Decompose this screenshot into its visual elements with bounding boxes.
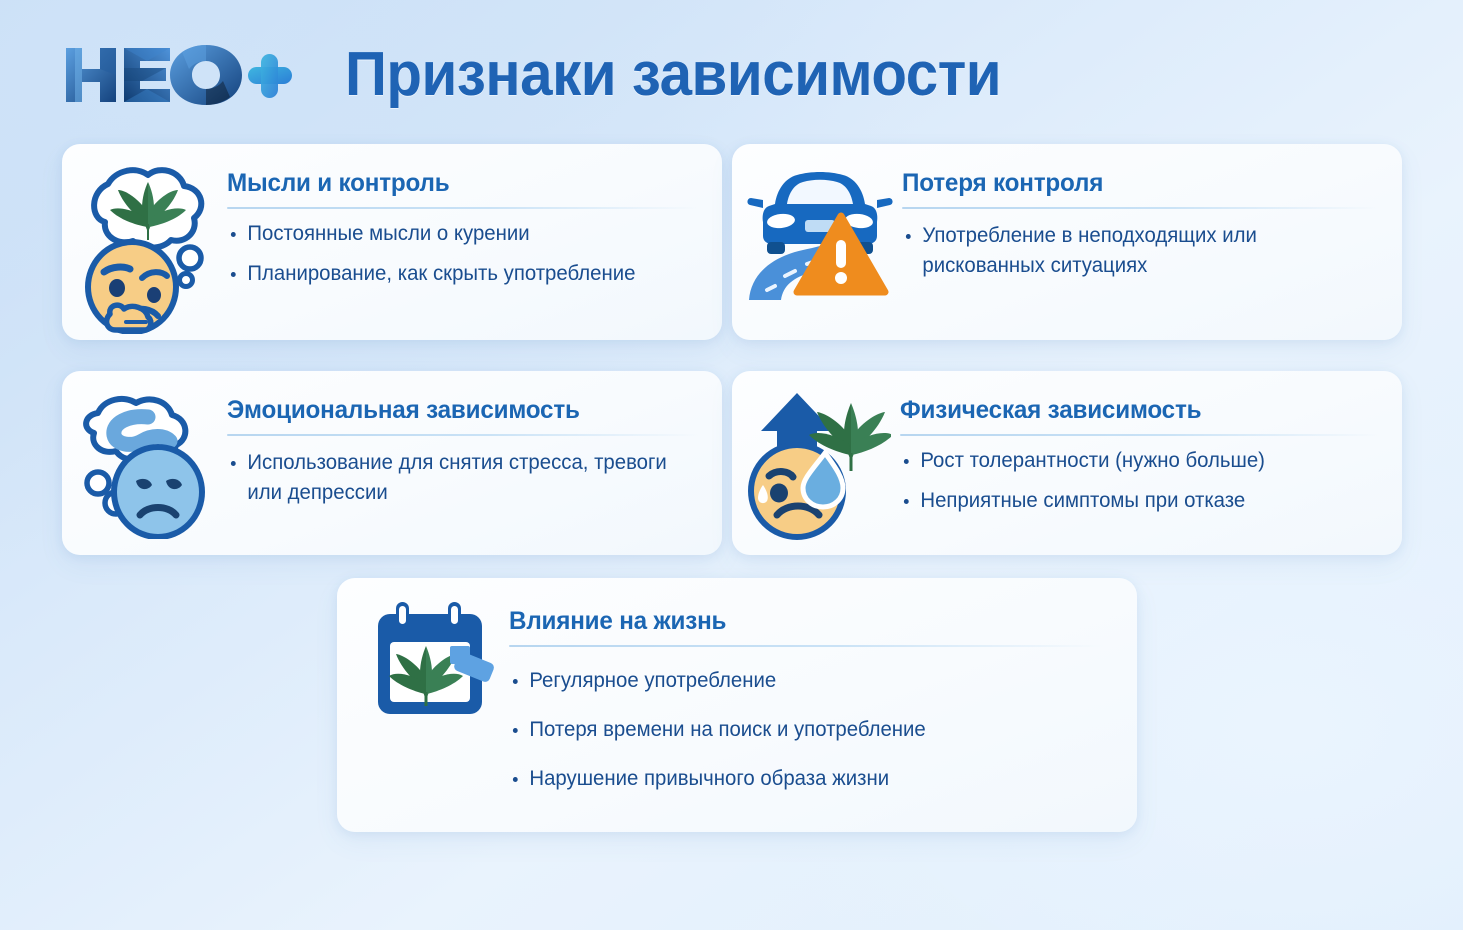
icon-wrap <box>62 371 227 539</box>
title-divider <box>227 434 700 436</box>
card-title: Физическая зависимость <box>900 395 1366 425</box>
list-item: Постоянные мысли о курении <box>227 219 686 249</box>
page-title: Признаки зависимости <box>345 42 1001 108</box>
list-item: Планирование, как скрыть употребление <box>227 259 686 289</box>
calendar-with-cannabis-leaf-icon <box>372 600 496 720</box>
card-emotional-dependence[interactable]: Эмоциональная зависимость Использование … <box>62 371 722 555</box>
list-item: Употребление в неподходящих или рискован… <box>902 221 1366 281</box>
icon-wrap <box>732 371 900 542</box>
card-title: Эмоциональная зависимость <box>227 395 686 425</box>
list-item: Неприятные симптомы при отказе <box>900 486 1366 516</box>
list-item: Нарушение привычного образа жизни <box>509 764 1085 794</box>
thinking-face-with-cannabis-thought-bubble-icon <box>70 162 220 334</box>
list-item: Использование для снятия стресса, тревог… <box>227 448 686 508</box>
icon-wrap <box>732 144 902 304</box>
title-divider <box>509 645 1103 647</box>
card-body: Физическая зависимость Рост толерантност… <box>900 371 1402 516</box>
worried-face-with-up-arrow-and-cannabis-leaf-icon <box>741 387 891 542</box>
card-body: Влияние на жизнь Регулярное употребление… <box>509 578 1137 794</box>
header: Признаки зависимости <box>0 0 1463 140</box>
card-body: Мысли и контроль Постоянные мысли о куре… <box>227 144 722 289</box>
infographic-canvas: Признаки зависимости <box>0 0 1463 930</box>
bullet-list: Использование для снятия стресса, тревог… <box>227 448 700 508</box>
title-divider <box>902 207 1380 209</box>
list-item: Рост толерантности (нужно больше) <box>900 446 1366 476</box>
card-title: Влияние на жизнь <box>509 606 1085 636</box>
card-physical-dependence[interactable]: Физическая зависимость Рост толерантност… <box>732 371 1402 555</box>
bullet-list: Регулярное употребление Потеря времени н… <box>509 666 1103 794</box>
bullet-list: Употребление в неподходящих или рискован… <box>902 221 1380 281</box>
car-on-road-with-warning-triangle-icon <box>741 164 893 304</box>
card-body: Эмоциональная зависимость Использование … <box>227 371 722 508</box>
card-body: Потеря контроля Употребление в неподходя… <box>902 144 1402 281</box>
card-title: Потеря контроля <box>902 168 1366 198</box>
list-item: Потеря времени на поиск и употребление <box>509 715 1085 745</box>
card-thoughts[interactable]: Мысли и контроль Постоянные мысли о куре… <box>62 144 722 340</box>
list-item: Регулярное употребление <box>509 666 1085 696</box>
sad-blue-face-with-thought-bubble-icon <box>70 389 220 539</box>
title-divider <box>900 434 1380 436</box>
bullet-list: Постоянные мысли о курении Планирование,… <box>227 219 700 289</box>
bullet-list: Рост толерантности (нужно больше) Неприя… <box>900 446 1380 516</box>
card-life-impact[interactable]: Влияние на жизнь Регулярное употребление… <box>337 578 1137 832</box>
neo-plus-logo <box>62 42 292 108</box>
icon-wrap <box>337 578 509 720</box>
card-loss-of-control[interactable]: Потеря контроля Употребление в неподходя… <box>732 144 1402 340</box>
card-title: Мысли и контроль <box>227 168 686 198</box>
icon-wrap <box>62 144 227 334</box>
title-divider <box>227 207 700 209</box>
